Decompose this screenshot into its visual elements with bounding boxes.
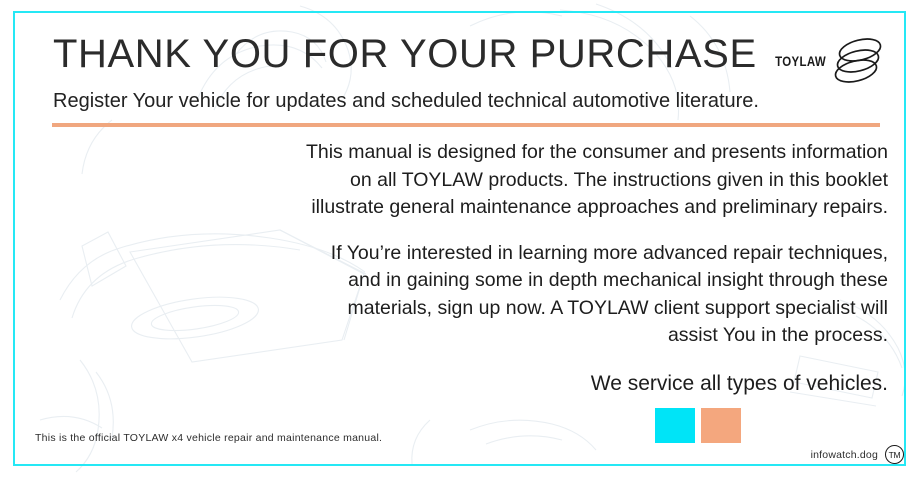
- page-content: THANK YOU FOR YOUR PURCHASE TOYLAW Regis…: [13, 11, 906, 466]
- closing-line: We service all types of vehicles.: [293, 370, 888, 398]
- header-row: THANK YOU FOR YOUR PURCHASE TOYLAW: [53, 29, 888, 87]
- footer-note: This is the official TOYLAW x4 vehicle r…: [35, 432, 382, 444]
- page-subtitle: Register Your vehicle for updates and sc…: [53, 90, 759, 113]
- paragraph-signup: If You’re interested in learning more ad…: [293, 240, 888, 350]
- page-title: THANK YOU FOR YOUR PURCHASE: [53, 29, 757, 79]
- brand-wordmark: TOYLAW: [775, 53, 826, 69]
- coil-spirals-icon: [832, 37, 884, 85]
- brand-logo: TOYLAW: [764, 37, 884, 85]
- divider-rule: [52, 123, 880, 127]
- document-page: THANK YOU FOR YOUR PURCHASE TOYLAW Regis…: [0, 0, 920, 486]
- body-copy: This manual is designed for the consumer…: [293, 139, 888, 398]
- paragraph-intro: This manual is designed for the consumer…: [293, 139, 888, 222]
